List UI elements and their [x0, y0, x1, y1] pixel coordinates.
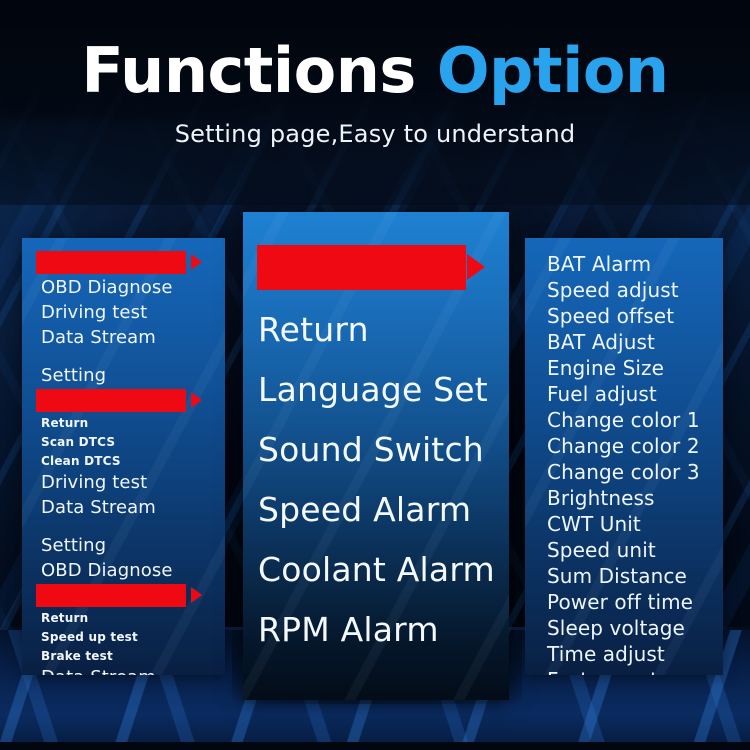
left-menu-item-driving-test[interactable]: Driving test [41, 300, 219, 325]
center-menu-item-label: Speed Alarm [258, 493, 471, 526]
right-menu-item-bat-alarm[interactable]: BAT Alarm [547, 251, 719, 277]
left-menu-group-separator [41, 350, 219, 363]
right-menu-panel: BAT AlarmSpeed adjustSpeed offsetBAT Adj… [525, 238, 723, 675]
left-menu-item-label: Brake test [41, 650, 113, 662]
right-menu-item-label: Change color 2 [547, 436, 700, 456]
right-menu-item-change-color-2[interactable]: Change color 2 [547, 433, 719, 459]
right-menu-item-sleep-voltage[interactable]: Sleep voltage [547, 615, 719, 641]
right-menu-item-speed-offset[interactable]: Speed offset [547, 303, 719, 329]
right-menu-item-label: Engine Size [547, 358, 664, 378]
center-menu-list: SettingReturnLanguage SetSound SwitchSpe… [258, 239, 503, 659]
left-menu-item-speed-up-test[interactable]: Speed up test [41, 627, 219, 646]
left-menu-item-label: OBD Diagnose [41, 562, 173, 580]
left-menu-item-obd-diagnose[interactable]: OBD Diagnose [41, 275, 219, 300]
left-menu-item-setting[interactable]: Setting [41, 250, 219, 275]
left-menu-item-label: Data Stream [41, 499, 156, 517]
right-menu-item-label: Change color 1 [547, 410, 700, 430]
left-menu-item-setting[interactable]: Setting [41, 533, 219, 558]
left-menu-item-label: Return [41, 612, 88, 624]
right-menu-item-bat-adjust[interactable]: BAT Adjust [547, 329, 719, 355]
right-menu-item-change-color-1[interactable]: Change color 1 [547, 407, 719, 433]
left-menu-item-label: Setting [41, 367, 106, 385]
center-menu-item-label: RPM Alarm [258, 613, 439, 646]
right-arrow-icon [191, 254, 202, 270]
left-menu-item-scan-dtcs[interactable]: Scan DTCS [41, 432, 219, 451]
right-menu-item-label: Factory set [547, 670, 658, 675]
right-menu-item-speed-unit[interactable]: Speed unit [547, 537, 719, 563]
right-menu-item-label: Time adjust [547, 644, 665, 664]
bottom-border-bar [0, 742, 750, 750]
right-arrow-icon [467, 254, 485, 280]
left-menu-item-label: OBD Diagnose [41, 279, 173, 297]
center-menu-highlight-bar [257, 245, 466, 290]
left-menu-item-return[interactable]: Return [41, 608, 219, 627]
right-menu-item-label: BAT Adjust [547, 332, 655, 352]
left-menu-item-label: Clean DTCS [41, 455, 121, 467]
center-menu-panel: SettingReturnLanguage SetSound SwitchSpe… [243, 212, 509, 700]
right-menu-item-power-off-time[interactable]: Power off time [547, 589, 719, 615]
center-menu-item-label: Return [258, 313, 369, 346]
right-menu-item-cwt-unit[interactable]: CWT Unit [547, 511, 719, 537]
left-menu-item-label: Data Stream [41, 669, 156, 676]
center-menu-item-return[interactable]: Return [258, 299, 503, 359]
center-menu-item-speed-alarm[interactable]: Speed Alarm [258, 479, 503, 539]
center-menu-item-label: Sound Switch [258, 433, 484, 466]
center-menu-item-sound-switch[interactable]: Sound Switch [258, 419, 503, 479]
right-menu-item-time-adjust[interactable]: Time adjust [547, 641, 719, 667]
page-title: Functions Option [0, 40, 750, 102]
right-menu-item-factory-set[interactable]: Factory set [547, 667, 719, 675]
banner-header: Functions Option Setting page,Easy to un… [0, 40, 750, 148]
page-subtitle: Setting page,Easy to understand [0, 120, 750, 148]
right-menu-item-label: Fuel adjust [547, 384, 657, 404]
right-arrow-icon [191, 587, 202, 603]
right-arrow-icon [191, 392, 202, 408]
left-menu-list: SettingOBD DiagnoseDriving testData Stre… [41, 250, 219, 675]
page-title-part-two: Option [437, 34, 669, 107]
right-menu-item-engine-size[interactable]: Engine Size [547, 355, 719, 381]
left-menu-item-obd-diagnose[interactable]: OBD Diagnose [41, 388, 219, 413]
right-menu-list: BAT AlarmSpeed adjustSpeed offsetBAT Adj… [547, 251, 719, 675]
page-title-part-one: Functions [81, 34, 415, 107]
right-menu-item-fuel-adjust[interactable]: Fuel adjust [547, 381, 719, 407]
left-menu-panel: SettingOBD DiagnoseDriving testData Stre… [22, 238, 225, 675]
left-menu-item-data-stream[interactable]: Data Stream [41, 495, 219, 520]
center-menu-item-label: Coolant Alarm [258, 553, 495, 586]
right-menu-item-label: CWT Unit [547, 514, 641, 534]
left-menu-item-clean-dtcs[interactable]: Clean DTCS [41, 451, 219, 470]
product-feature-banner: Functions Option Setting page,Easy to un… [0, 0, 750, 750]
left-menu-item-label: Return [41, 417, 88, 429]
left-menu-item-label: Scan DTCS [41, 436, 115, 448]
center-menu-item-coolant-alarm[interactable]: Coolant Alarm [258, 539, 503, 599]
left-menu-item-brake-test[interactable]: Brake test [41, 646, 219, 665]
right-menu-item-label: BAT Alarm [547, 254, 651, 274]
center-menu-item-setting[interactable]: Setting [258, 239, 503, 299]
left-menu-item-label: Driving test [41, 474, 147, 492]
left-menu-item-driving-test[interactable]: Driving test [41, 470, 219, 495]
right-menu-item-sum-distance[interactable]: Sum Distance [547, 563, 719, 589]
right-menu-item-label: Sum Distance [547, 566, 687, 586]
left-menu-item-return[interactable]: Return [41, 413, 219, 432]
left-menu-item-obd-diagnose[interactable]: OBD Diagnose [41, 558, 219, 583]
right-menu-item-label: Speed adjust [547, 280, 679, 300]
left-menu-highlight-bar [36, 389, 186, 412]
right-menu-item-change-color-3[interactable]: Change color 3 [547, 459, 719, 485]
right-menu-item-label: Change color 3 [547, 462, 700, 482]
left-menu-item-label: Data Stream [41, 329, 156, 347]
right-menu-item-speed-adjust[interactable]: Speed adjust [547, 277, 719, 303]
left-menu-item-label: Driving test [41, 304, 147, 322]
left-menu-group-separator [41, 520, 219, 533]
left-menu-highlight-bar [36, 251, 186, 274]
center-menu-item-rpm-alarm[interactable]: RPM Alarm [258, 599, 503, 659]
right-menu-item-label: Speed offset [547, 306, 674, 326]
left-menu-item-label: Speed up test [41, 631, 138, 643]
center-menu-item-language-set[interactable]: Language Set [258, 359, 503, 419]
right-menu-item-label: Speed unit [547, 540, 656, 560]
right-menu-item-brightness[interactable]: Brightness [547, 485, 719, 511]
left-menu-item-label: Setting [41, 537, 106, 555]
left-menu-highlight-bar [36, 584, 186, 607]
left-menu-item-data-stream[interactable]: Data Stream [41, 325, 219, 350]
left-menu-item-setting[interactable]: Setting [41, 363, 219, 388]
right-menu-item-label: Brightness [547, 488, 655, 508]
center-menu-item-label: Language Set [258, 373, 488, 406]
left-menu-item-data-stream[interactable]: Data Stream [41, 665, 219, 675]
left-menu-item-driving-test[interactable]: Driving test [41, 583, 219, 608]
right-menu-item-label: Power off time [547, 592, 693, 612]
right-menu-item-label: Sleep voltage [547, 618, 685, 638]
